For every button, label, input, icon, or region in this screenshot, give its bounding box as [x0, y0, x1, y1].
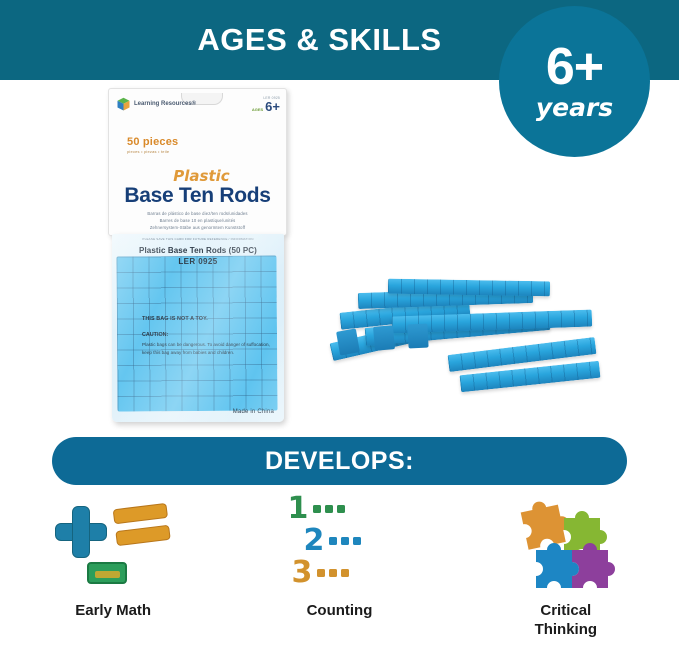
page-title: AGES & SKILLS — [197, 22, 441, 58]
base-ten-rod — [388, 279, 550, 297]
package-age-label: AGES — [252, 108, 263, 112]
equals-icon — [113, 503, 172, 551]
counting-digit: 1 — [287, 494, 308, 524]
bag-caution-label: CAUTION: — [142, 332, 168, 338]
cube-logo-icon — [116, 97, 131, 112]
counting-row-3: 3 — [291, 558, 349, 588]
counting-row-1: 1 — [287, 494, 345, 524]
age-badge: 6+ years — [499, 6, 650, 157]
bag-made-in-text: Made in China — [233, 409, 274, 415]
puzzle-pieces-icon — [486, 492, 646, 600]
develops-banner: DEVELOPS: — [52, 437, 627, 485]
package-header-card: Learning Resources® LER 0925 AGES 6+ 50 … — [108, 88, 287, 236]
counting-digit: 2 — [303, 526, 324, 556]
package-subtitle-line: Barres de base 10 en plastique/unités — [109, 218, 286, 225]
base-ten-rod-end — [373, 325, 395, 351]
skill-item-early-math: Early Math — [0, 492, 226, 650]
product-rods-image — [330, 268, 595, 398]
bag-product-name: Plastic Base Ten Rods (50 PC) — [112, 246, 284, 255]
package-age-value: 6+ — [265, 101, 280, 112]
bag-item-code: LER 0925 — [112, 257, 284, 266]
package-age-corner: LER 0925 AGES 6+ — [252, 96, 280, 112]
base-ten-cubes-stack — [116, 255, 277, 411]
package-material-script: Plastic — [109, 167, 286, 185]
skill-label-critical-thinking: Critical Thinking — [535, 602, 598, 640]
skill-label-early-math: Early Math — [75, 602, 151, 621]
skill-item-critical-thinking: Critical Thinking — [453, 492, 679, 650]
package-subtitle-line: Barras de plástico de base diez/ten rods… — [109, 211, 286, 218]
package-piece-count-main: 50 pieces — [127, 136, 178, 148]
product-package-image: Learning Resources® LER 0925 AGES 6+ 50 … — [108, 88, 290, 422]
brand-logo: Learning Resources® — [116, 97, 196, 112]
counting-dots — [317, 569, 349, 577]
counting-dots — [313, 505, 345, 513]
package-plastic-bag: PLEASE SAVE THIS CARD FOR FUTURE REFEREN… — [112, 234, 284, 422]
age-badge-value: 6+ — [546, 43, 603, 92]
develops-heading: DEVELOPS: — [265, 447, 414, 476]
package-subtitle-line: Zehnersystem-Stäbe aus genormtem Kunstst… — [109, 225, 286, 232]
minus-icon — [87, 562, 127, 584]
bag-top-small-text: PLEASE SAVE THIS CARD FOR FUTURE REFEREN… — [112, 238, 284, 242]
counting-row-2: 2 — [303, 526, 361, 556]
package-piece-count-sub: pieces • piezas • teile — [127, 149, 178, 154]
base-ten-rod-end — [407, 323, 428, 348]
package-multilingual-subtitles: Barras de plástico de base diez/ten rods… — [109, 211, 286, 232]
skills-row: Early Math 1 2 3 — [0, 492, 679, 650]
counting-dots — [329, 537, 361, 545]
brand-logo-text: Learning Resources® — [134, 101, 196, 108]
age-badge-unit: years — [536, 95, 613, 120]
bag-caution-text: Plastic bags can be dangerous. To avoid … — [142, 341, 275, 357]
package-piece-count: 50 pieces pieces • piezas • teile — [127, 136, 178, 154]
counting-digit: 3 — [291, 558, 312, 588]
base-ten-rod-end — [336, 328, 360, 355]
skill-label-counting: Counting — [307, 602, 373, 621]
skill-item-counting: 1 2 3 — [226, 492, 452, 650]
bag-warning-heading: THIS BAG IS NOT A TOY. — [142, 316, 208, 322]
numbers-counting-icon: 1 2 3 — [259, 492, 419, 600]
math-symbols-icon — [33, 492, 193, 600]
plus-icon — [55, 506, 107, 558]
package-product-title: Base Ten Rods — [109, 184, 286, 208]
